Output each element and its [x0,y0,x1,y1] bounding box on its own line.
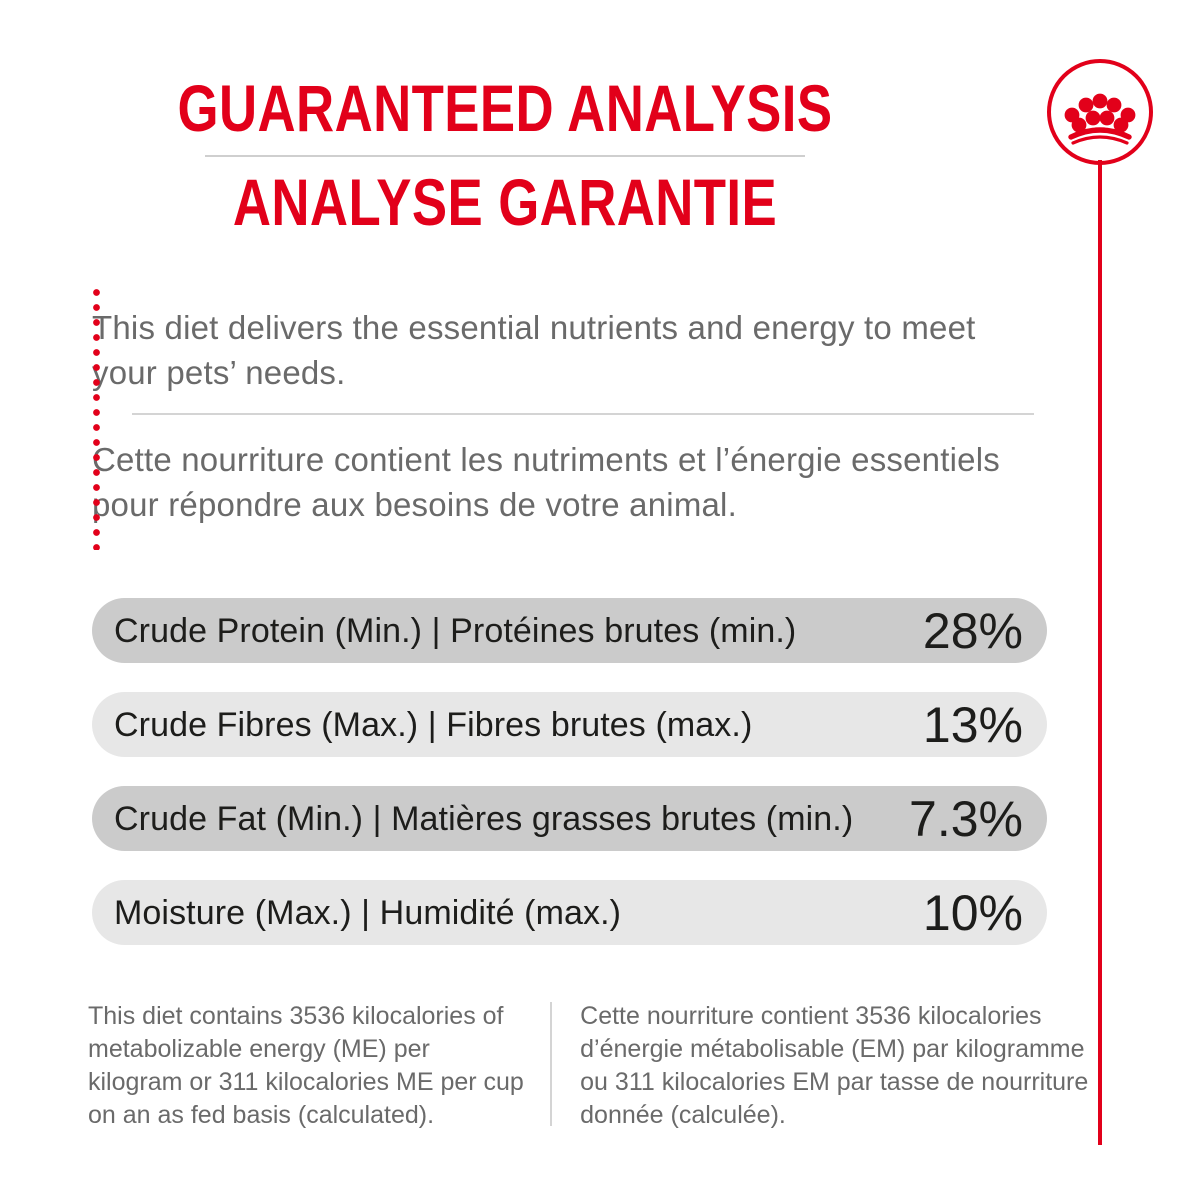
nutrient-value: 10% [923,887,1023,939]
nutrient-value: 13% [923,699,1023,751]
guaranteed-analysis-table: Crude Protein (Min.) | Protéines brutes … [92,598,1047,974]
brand-vertical-rule [1098,160,1102,1145]
nutrient-value: 28% [923,605,1023,657]
footnote-text-fr: Cette nourriture contient 3536 kilocalor… [552,1000,1098,1132]
intro-text-fr: Cette nourriture contient les nutriments… [92,437,1042,527]
table-row: Moisture (Max.) | Humidité (max.) 10% [92,880,1047,945]
table-row: Crude Protein (Min.) | Protéines brutes … [92,598,1047,663]
nutrient-value: 7.3% [909,793,1023,845]
dotted-rail-decoration [92,288,101,550]
table-row: Crude Fibres (Max.) | Fibres brutes (max… [92,692,1047,757]
nutrient-label: Moisture (Max.) | Humidité (max.) [114,895,621,931]
page-title: GUARANTEED ANALYSIS ANALYSE GARANTIE [0,72,1010,238]
nutrient-label: Crude Protein (Min.) | Protéines brutes … [114,613,796,649]
intro-text-en: This diet delivers the essential nutrien… [92,288,1042,395]
table-row: Crude Fat (Min.) | Matières grasses brut… [92,786,1047,851]
footnote-section: This diet contains 3536 kilocalories of … [88,1000,1098,1132]
intro-section: This diet delivers the essential nutrien… [92,288,1042,527]
nutrient-label: Crude Fibres (Max.) | Fibres brutes (max… [114,707,752,743]
intro-divider [132,413,1034,415]
title-line-fr: ANALYSE GARANTIE [101,166,909,238]
footnote-text-en: This diet contains 3536 kilocalories of … [88,1000,550,1132]
title-divider [205,155,805,157]
nutrient-label: Crude Fat (Min.) | Matières grasses brut… [114,801,853,837]
title-line-en: GUARANTEED ANALYSIS [101,72,909,144]
royal-canin-crown-icon [1045,57,1155,167]
